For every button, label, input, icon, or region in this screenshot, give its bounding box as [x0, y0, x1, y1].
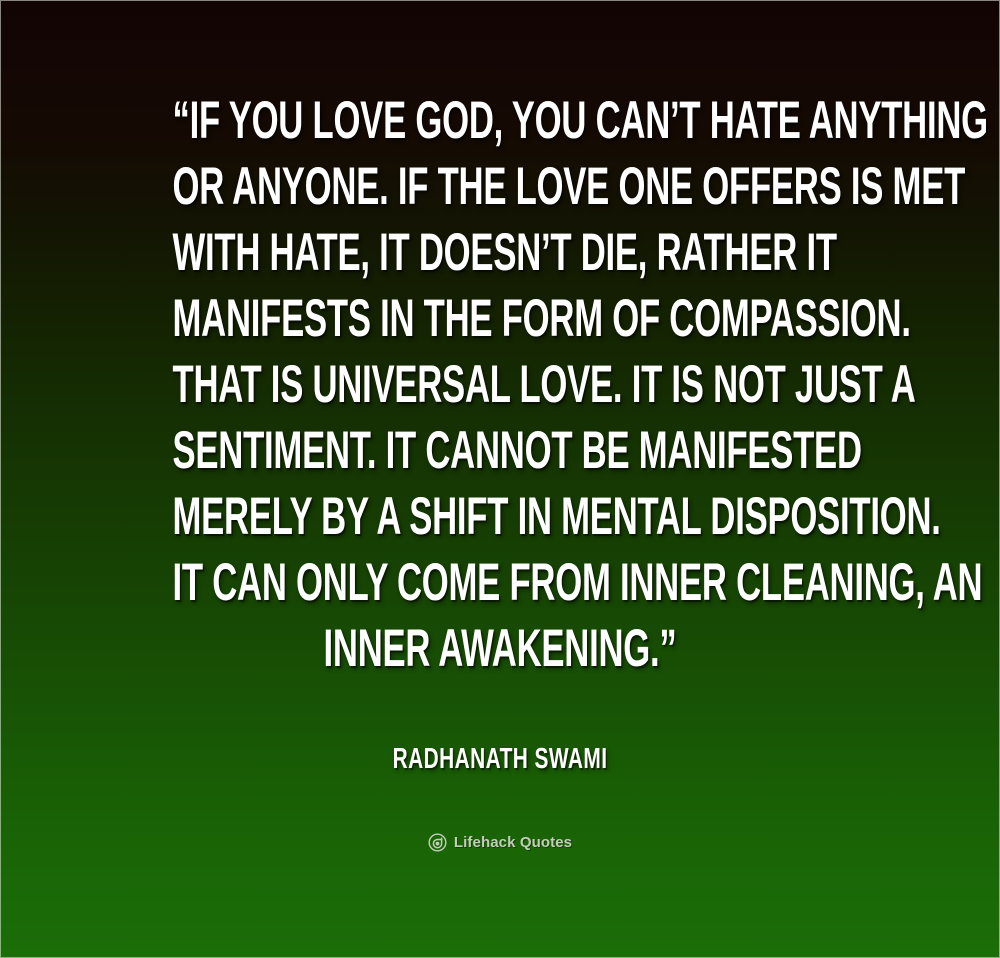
quote-line: INNER AWAKENING.”	[173, 616, 828, 682]
quote-text: “IF YOU LOVE GOD, YOU CAN’T HATE ANYTHIN…	[0, 88, 1000, 682]
quote-line: WITH HATE, IT DOESN’T DIE, RATHER IT	[173, 220, 828, 286]
quote-author: RADHANATH SWAMI	[140, 742, 860, 776]
quote-line: OR ANYONE. IF THE LOVE ONE OFFERS IS MET	[173, 154, 828, 220]
quote-line: MERELY BY A SHIFT IN MENTAL DISPOSITION.	[173, 484, 828, 550]
footer-brand-label: Lifehack Quotes	[454, 833, 572, 852]
quote-line: THAT IS UNIVERSAL LOVE. IT IS NOT JUST A	[173, 352, 828, 418]
quote-poster: “IF YOU LOVE GOD, YOU CAN’T HATE ANYTHIN…	[0, 0, 1000, 958]
footer-branding: Lifehack Quotes	[0, 833, 1000, 852]
quote-line: SENTIMENT. IT CANNOT BE MANIFESTED	[173, 418, 828, 484]
quote-line: MANIFESTS IN THE FORM OF COMPASSION.	[173, 286, 828, 352]
quote-line: “IF YOU LOVE GOD, YOU CAN’T HATE ANYTHIN…	[173, 88, 828, 154]
lifehack-circle-logo-icon	[428, 833, 447, 852]
quote-line: IT CAN ONLY COME FROM INNER CLEANING, AN	[173, 550, 828, 616]
